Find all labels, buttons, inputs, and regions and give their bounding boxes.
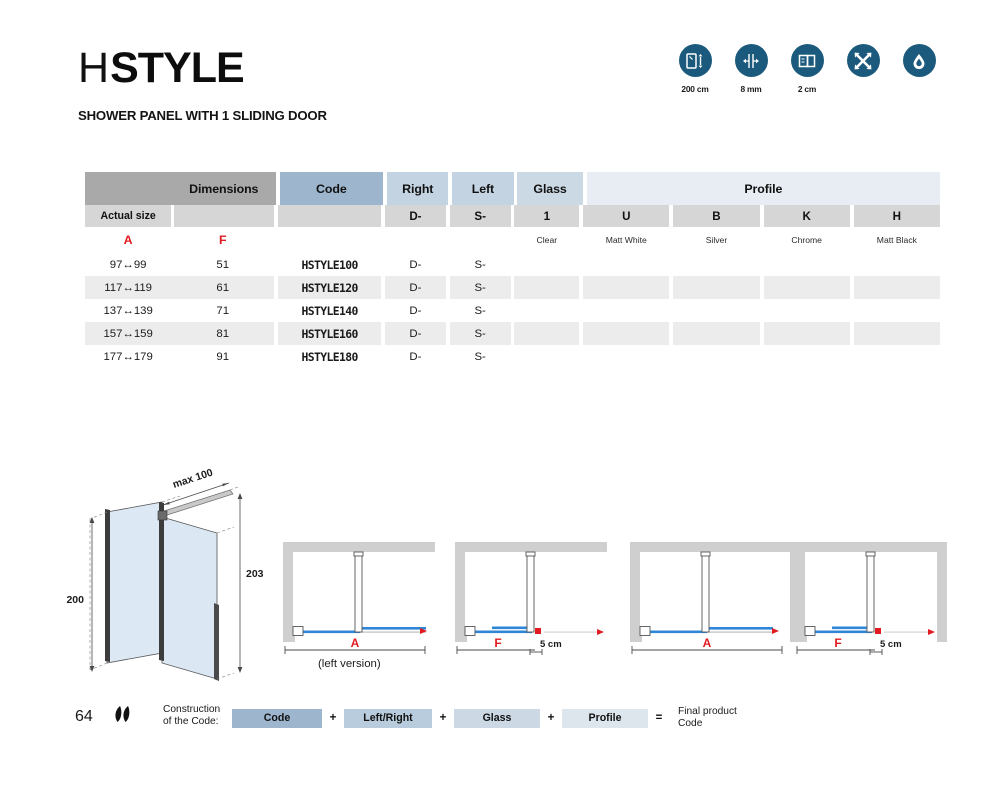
subheader-actual-size: Actual size — [85, 205, 171, 227]
feature-easy-clean — [902, 44, 936, 94]
subheader-profile-b: B — [673, 205, 759, 227]
cell-dimension-a: 157↔159 — [85, 322, 171, 345]
cell-left: S- — [450, 345, 511, 368]
cell-profile-h — [854, 253, 940, 276]
subheader-left-code: S- — [450, 205, 511, 227]
subheader-profile-k: K — [764, 205, 850, 227]
subheader-glass-code: 1 — [514, 205, 579, 227]
cell-glass — [514, 322, 579, 345]
cell-right: D- — [385, 345, 446, 368]
page-subtitle: SHOWER PANEL WITH 1 SLIDING DOOR — [78, 108, 327, 123]
cell-dimension-f: 71 — [171, 299, 274, 322]
cell-dimension-a: 97↔99 — [85, 253, 171, 276]
formula-box-code: Code — [232, 709, 322, 728]
cell-glass — [514, 253, 579, 276]
cell-profile-h — [854, 299, 940, 322]
cell-profile-h — [854, 276, 940, 299]
cell-dimension-f: 91 — [171, 345, 274, 368]
cell-code: HSTYLE120 — [278, 276, 381, 299]
header-code: Code — [280, 172, 384, 205]
table-row: 177↔17991HSTYLE180D-S- — [85, 345, 940, 368]
cell-profile-k — [764, 322, 850, 345]
page-number: 64 — [75, 708, 93, 726]
cell-right: D- — [385, 299, 446, 322]
formula-box-leftright: Left/Right — [344, 709, 432, 728]
cell-glass — [514, 276, 579, 299]
table-row: 117↔11961HSTYLE120D-S- — [85, 276, 940, 299]
cell-profile-k — [764, 345, 850, 368]
plan-2-label-5cm: 5 cm — [540, 639, 562, 650]
cell-profile-h — [854, 322, 940, 345]
cell-profile-b — [673, 276, 759, 299]
dimension-200: 200 — [66, 594, 84, 606]
cell-profile-u — [583, 276, 669, 299]
formula-box-profile: Profile — [562, 709, 648, 728]
subheader-profile-u: U — [583, 205, 669, 227]
cell-right: D- — [385, 276, 446, 299]
isometric-drawing: 200 203 max 100 — [62, 455, 302, 690]
cell-profile-u — [583, 299, 669, 322]
cell-dimension-a: 177↔179 — [85, 345, 171, 368]
cell-code: HSTYLE180 — [278, 345, 381, 368]
table-group-header-row: Dimensions Code Right Left Glass Profile — [85, 172, 940, 205]
subheader-code-blank — [278, 205, 381, 227]
plan-4-niche-f: F 5 cm — [795, 542, 947, 655]
letter-left-blank — [450, 227, 511, 253]
plan-2-f-dimension: F 5 cm — [455, 542, 607, 655]
dimension-max-100: max 100 — [171, 467, 214, 491]
table-row: 137↔13971HSTYLE140D-S- — [85, 299, 940, 322]
header-left: Left — [452, 172, 513, 205]
cell-code: HSTYLE100 — [278, 253, 381, 276]
cell-right: D- — [385, 322, 446, 345]
feature-icon-row: 200 cm 8 mm 2 cm — [678, 44, 936, 94]
cell-right: D- — [385, 253, 446, 276]
label-dimension-f: F — [171, 227, 274, 253]
plan-1-label-a: A — [351, 636, 360, 650]
glass-thickness-label: 8 mm — [740, 84, 761, 94]
title-prefix: H — [78, 44, 110, 92]
feature-panel-height: 200 cm — [678, 44, 712, 94]
construction-label-line2: of the Code: — [163, 716, 220, 728]
cell-left: S- — [450, 253, 511, 276]
label-dimension-a: A — [85, 227, 171, 253]
plan-1-left-version: A — [283, 542, 435, 654]
cell-profile-b — [673, 253, 759, 276]
formula-plus-2: + — [432, 712, 454, 724]
formula-plus-3: + — [540, 712, 562, 724]
table-row: 97↔9951HSTYLE100D-S- — [85, 253, 940, 276]
cell-dimension-f: 81 — [171, 322, 274, 345]
feature-reversible — [846, 44, 880, 94]
page-title: HSTYLE — [78, 46, 244, 90]
cell-code: HSTYLE140 — [278, 299, 381, 322]
cell-profile-k — [764, 276, 850, 299]
feature-glass-thickness: 8 mm — [734, 44, 768, 94]
plan-2-label-f: F — [494, 636, 501, 650]
plan-3-niche-a: A — [630, 542, 800, 654]
easy-clean-water-icon — [903, 44, 936, 77]
header-dimensions-a — [85, 172, 172, 205]
feature-adjustment: 2 cm — [790, 44, 824, 94]
letter-right-blank — [385, 227, 446, 253]
cell-dimension-f: 51 — [171, 253, 274, 276]
formula-plus-1: + — [322, 712, 344, 724]
adjustment-range-icon — [791, 44, 824, 77]
cell-code: HSTYLE160 — [278, 322, 381, 345]
cell-dimension-a: 137↔139 — [85, 299, 171, 322]
label-profile-u: Matt White — [583, 227, 669, 253]
cell-profile-k — [764, 299, 850, 322]
cell-dimension-a: 117↔119 — [85, 276, 171, 299]
panel-height-label: 200 cm — [681, 84, 708, 94]
adjustment-range-label: 2 cm — [798, 84, 816, 94]
label-profile-k: Chrome — [764, 227, 850, 253]
construction-label-line1: Construction — [163, 704, 220, 716]
cell-profile-u — [583, 253, 669, 276]
glass-thickness-icon — [735, 44, 768, 77]
cell-profile-b — [673, 345, 759, 368]
specification-table: Dimensions Code Right Left Glass Profile… — [85, 172, 940, 368]
table-body: 97↔9951HSTYLE100D-S-117↔11961HSTYLE120D-… — [85, 253, 940, 368]
subheader-right-code: D- — [385, 205, 446, 227]
cell-left: S- — [450, 299, 511, 322]
formula-box-glass: Glass — [454, 709, 540, 728]
reversible-icon — [847, 44, 880, 77]
plan-4-label-5cm: 5 cm — [880, 639, 902, 650]
table-letter-row: A F Clear Matt White Silver Chrome Matt … — [85, 227, 940, 253]
cell-profile-b — [673, 299, 759, 322]
subheader-f-blank — [174, 205, 274, 227]
letter-code-blank — [278, 227, 381, 253]
catalog-page: HSTYLE SHOWER PANEL WITH 1 SLIDING DOOR … — [0, 0, 1000, 789]
cell-dimension-f: 61 — [171, 276, 274, 299]
formula-result-line1: Final product — [678, 706, 737, 718]
title-main: STYLE — [110, 44, 244, 92]
formula-result: Final product Code — [678, 706, 737, 731]
cell-profile-u — [583, 345, 669, 368]
header-dimensions: Dimensions — [172, 172, 276, 205]
header-right: Right — [387, 172, 448, 205]
cell-glass — [514, 299, 579, 322]
table-row: 157↔15981HSTYLE160D-S- — [85, 322, 940, 345]
cell-profile-k — [764, 253, 850, 276]
plan-3-label-a: A — [703, 636, 712, 650]
plan-4-label-f: F — [834, 636, 841, 650]
label-profile-b: Silver — [673, 227, 759, 253]
formula-equals: = — [648, 712, 670, 724]
cell-profile-u — [583, 322, 669, 345]
code-construction-formula: Code + Left/Right + Glass + Profile = Fi… — [232, 706, 737, 731]
plan-caption-left-version: (left version) — [318, 658, 381, 670]
cell-profile-h — [854, 345, 940, 368]
brand-logo — [108, 703, 138, 727]
cell-profile-b — [673, 322, 759, 345]
cell-left: S- — [450, 322, 511, 345]
label-profile-h: Matt Black — [854, 227, 940, 253]
cell-left: S- — [450, 276, 511, 299]
header-profile: Profile — [587, 172, 940, 205]
formula-result-line2: Code — [678, 718, 737, 730]
construction-label: Construction of the Code: — [163, 704, 220, 729]
panel-height-icon — [679, 44, 712, 77]
cell-glass — [514, 345, 579, 368]
header-glass: Glass — [517, 172, 582, 205]
table-subheader-row: Actual size D- S- 1 U B K H — [85, 205, 940, 227]
label-glass-material: Clear — [514, 227, 579, 253]
subheader-profile-h: H — [854, 205, 940, 227]
dimension-203: 203 — [246, 568, 264, 580]
